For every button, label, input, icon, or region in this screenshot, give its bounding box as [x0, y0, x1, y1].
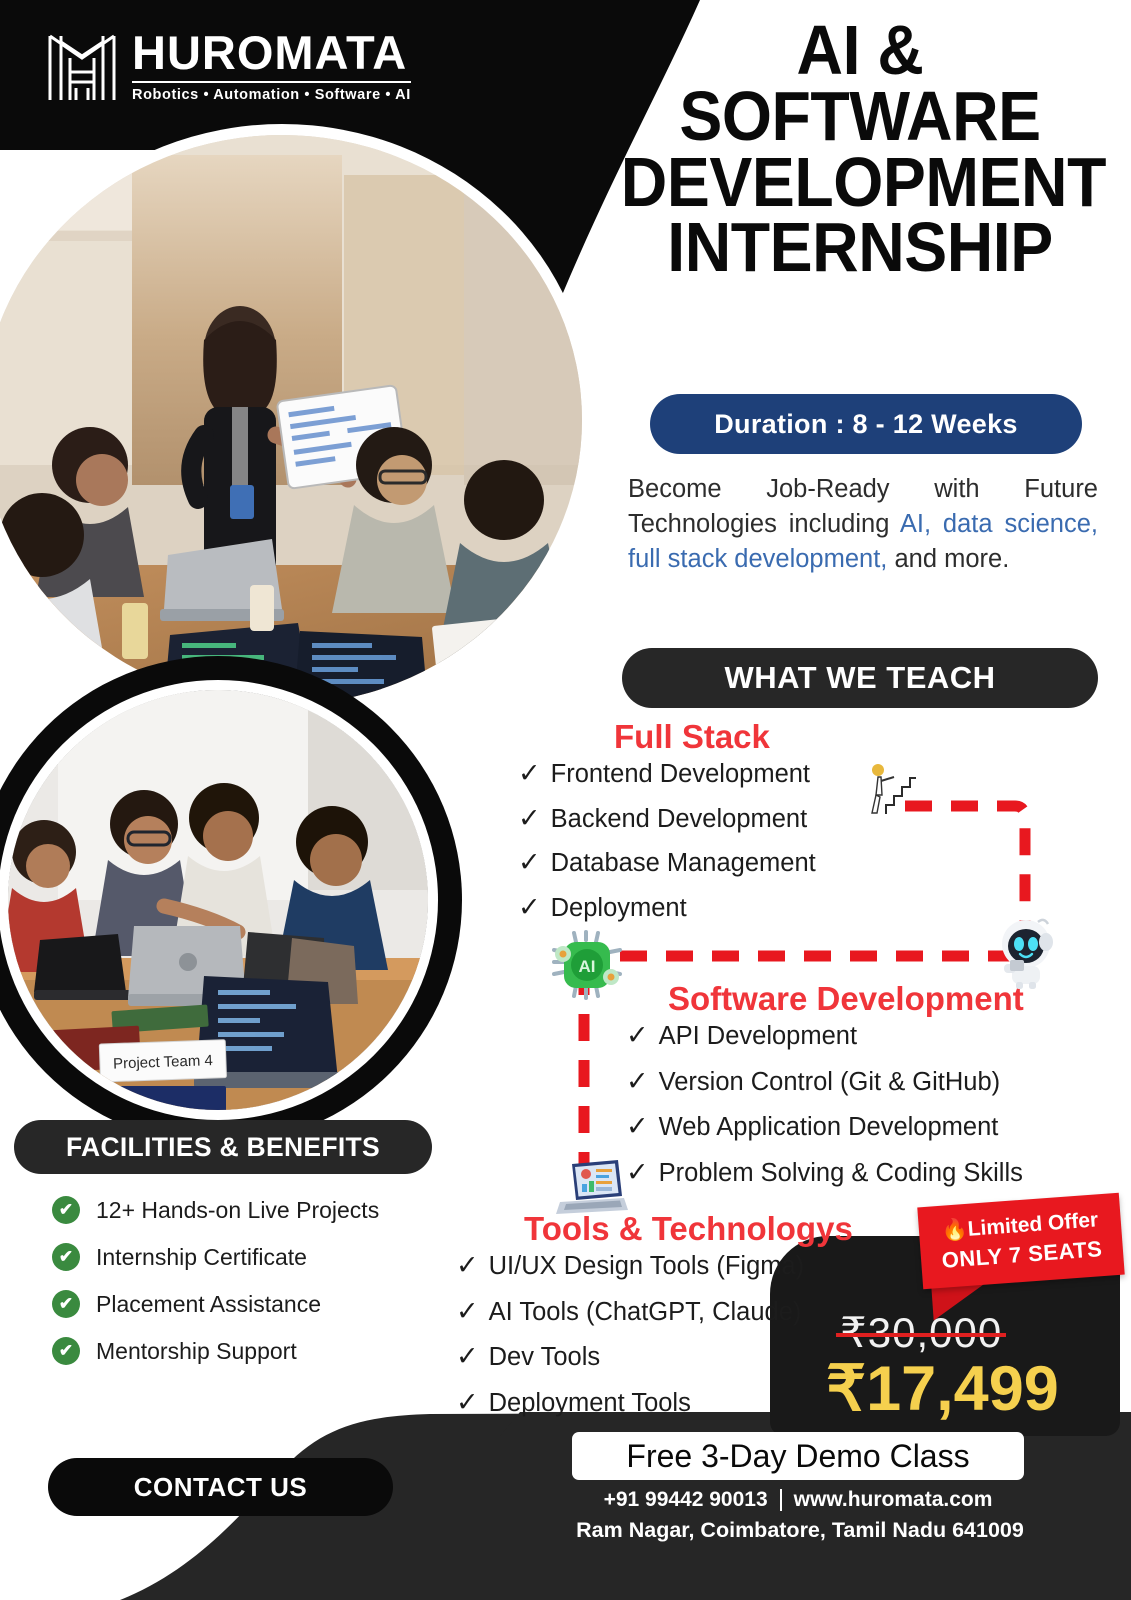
svg-text:AI: AI	[579, 957, 596, 976]
green-check-icon: ✔	[52, 1243, 80, 1271]
list-item-label: Deployment	[551, 896, 687, 922]
check-icon: ✓	[518, 805, 541, 832]
facilities-benefits-banner: FACILITIES & BENEFITS	[14, 1120, 432, 1174]
list-item: ✔Mentorship Support	[52, 1337, 379, 1365]
list-item-label: AI Tools (ChatGPT, Claude)	[489, 1300, 802, 1326]
list-item: ✓Problem Solving & Coding Skills	[626, 1159, 1023, 1187]
bottom-photo: Project Team 4	[8, 690, 428, 1110]
list-item-label: UI/UX Design Tools (Figma)	[489, 1254, 805, 1280]
list-item: ✓Version Control (Git & GitHub)	[626, 1068, 1023, 1096]
list-item: ✓Dev Tools	[456, 1343, 804, 1371]
check-icon: ✓	[456, 1389, 479, 1416]
list-item: ✓Deployment Tools	[456, 1389, 804, 1417]
top-photo	[0, 135, 582, 705]
poster-title: AI & SOFTWARE DEVELOPMENT INTERNSHIP	[600, 18, 1120, 281]
green-check-icon: ✔	[52, 1196, 80, 1224]
website-url[interactable]: www.huromata.com	[794, 1488, 993, 1512]
list-item-label: Placement Assistance	[96, 1291, 321, 1318]
list-item-label: Version Control (Git & GitHub)	[659, 1070, 1001, 1096]
list-item: ✓Backend Development	[518, 805, 816, 833]
check-icon: ✓	[626, 1113, 649, 1140]
list-item: ✓Web Application Development	[626, 1113, 1023, 1141]
title-line-3: DEVELOPMENT	[621, 150, 1099, 216]
check-icon: ✓	[518, 849, 541, 876]
list-item-label: Web Application Development	[659, 1115, 999, 1141]
check-icon: ✓	[626, 1159, 649, 1186]
svg-text:Project Team 4: Project Team 4	[113, 1052, 213, 1072]
list-item: ✓Deployment	[518, 894, 816, 922]
contact-line-phone-web: +91 99442 90013 www.huromata.com	[572, 1488, 1024, 1512]
limited-offer-ribbon: 🔥Limited Offer ONLY 7 SEATS	[917, 1193, 1124, 1290]
group-heading-full-stack: Full Stack	[614, 718, 770, 756]
list-item: ✔Placement Assistance	[52, 1290, 379, 1318]
phone-number[interactable]: +91 99442 90013	[604, 1488, 768, 1512]
list-item: ✔12+ Hands-on Live Projects	[52, 1196, 379, 1224]
contact-us-button[interactable]: CONTACT US	[48, 1458, 393, 1516]
list-item-label: Problem Solving & Coding Skills	[659, 1161, 1023, 1187]
title-line-2: SOFTWARE	[621, 84, 1099, 150]
list-item-label: Frontend Development	[551, 762, 810, 788]
contact-divider	[780, 1489, 782, 1511]
check-icon: ✓	[456, 1298, 479, 1325]
address-line: Ram Nagar, Coimbatore, Tamil Nadu 641009	[540, 1518, 1060, 1543]
intro-paragraph: Become Job-Ready with Future Technologie…	[628, 472, 1098, 578]
list-item-label: Internship Certificate	[96, 1244, 307, 1271]
demo-class-badge: Free 3-Day Demo Class	[572, 1432, 1024, 1480]
check-icon: ✓	[456, 1343, 479, 1370]
check-icon: ✓	[626, 1022, 649, 1049]
full-stack-list: ✓Frontend Development ✓Backend Developme…	[518, 760, 816, 938]
list-item: ✔Internship Certificate	[52, 1243, 379, 1271]
robot-mascot-icon	[994, 918, 1058, 990]
title-line-1: AI &	[621, 18, 1099, 84]
logo-divider	[132, 81, 411, 83]
brand-tagline: Robotics • Automation • Software • AI	[132, 87, 411, 103]
list-item: ✓Frontend Development	[518, 760, 816, 788]
list-item-label: Database Management	[551, 851, 816, 877]
check-icon: ✓	[518, 894, 541, 921]
list-item-label: Mentorship Support	[96, 1338, 297, 1365]
students-laptops-photo-illustration: Project Team 4	[8, 690, 428, 1110]
green-check-icon: ✔	[52, 1337, 80, 1365]
software-development-list: ✓API Development ✓Version Control (Git &…	[626, 1022, 1023, 1204]
list-item-label: Deployment Tools	[489, 1391, 691, 1417]
laptop-dashboard-icon	[556, 1158, 628, 1216]
tools-technologies-list: ✓UI/UX Design Tools (Figma) ✓AI Tools (C…	[456, 1252, 804, 1434]
discounted-price: ₹17,499	[826, 1352, 1059, 1425]
group-heading-software-development: Software Development	[668, 980, 1024, 1018]
list-item-label: Backend Development	[551, 807, 808, 833]
facilities-list: ✔12+ Hands-on Live Projects ✔Internship …	[52, 1196, 379, 1384]
list-item: ✓API Development	[626, 1022, 1023, 1050]
check-icon: ✓	[626, 1068, 649, 1095]
title-line-4: INTERNSHIP	[621, 215, 1099, 281]
list-item: ✓UI/UX Design Tools (Figma)	[456, 1252, 804, 1280]
check-icon: ✓	[518, 760, 541, 787]
list-item-label: Dev Tools	[489, 1345, 601, 1371]
green-check-icon: ✔	[52, 1290, 80, 1318]
duration-badge: Duration : 8 - 12 Weeks	[650, 394, 1082, 454]
list-item-label: 12+ Hands-on Live Projects	[96, 1197, 379, 1224]
brand-logo: HUROMATA Robotics • Automation • Softwar…	[46, 28, 411, 104]
intro-text-post: and more.	[887, 545, 1009, 573]
what-we-teach-banner: WHAT WE TEACH	[622, 648, 1098, 708]
list-item-label: API Development	[659, 1024, 857, 1050]
list-item: ✓AI Tools (ChatGPT, Claude)	[456, 1298, 804, 1326]
ai-chip-icon: AI	[552, 930, 622, 1000]
brand-name: HUROMATA	[132, 29, 411, 76]
person-climbing-stairs-icon	[862, 762, 916, 824]
huromata-monogram-icon	[46, 28, 118, 104]
mentor-presenting-photo-illustration	[0, 135, 582, 705]
poster-root: HUROMATA Robotics • Automation • Softwar…	[0, 0, 1131, 1600]
list-item: ✓Database Management	[518, 849, 816, 877]
check-icon: ✓	[456, 1252, 479, 1279]
price-strikethrough	[836, 1333, 1006, 1337]
